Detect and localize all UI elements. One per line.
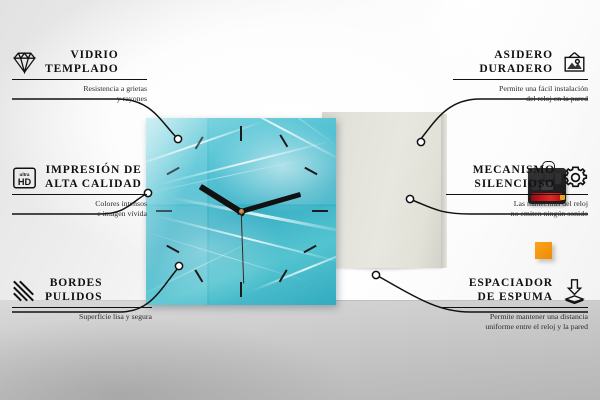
feature-title: DE ESPUMA bbox=[469, 291, 553, 305]
divider bbox=[12, 194, 147, 195]
divider bbox=[12, 307, 152, 308]
divider bbox=[440, 307, 588, 308]
foam-spacer bbox=[535, 242, 552, 259]
product-group bbox=[140, 104, 445, 309]
feature-desc: Las manecillas del reloj bbox=[446, 199, 588, 209]
clock-back-panel bbox=[322, 112, 442, 268]
diamond-icon bbox=[12, 51, 37, 74]
feature-desc: Permite mantener una distancia bbox=[440, 312, 588, 322]
feature-desc: uniforme entre el reloj y la pared bbox=[440, 322, 588, 332]
hands-hub bbox=[239, 209, 244, 214]
hour-tick bbox=[312, 210, 328, 212]
svg-text:HD: HD bbox=[18, 177, 32, 187]
feature-desc: y rayones bbox=[12, 94, 147, 104]
feature-mecanismo-silencioso: MECANISMO SILENCIOSO Las manecillas del … bbox=[446, 164, 588, 218]
feature-title: BORDES bbox=[45, 277, 102, 291]
divider bbox=[12, 79, 147, 80]
feature-desc: Permite una fácil instalación bbox=[453, 84, 588, 94]
feature-desc: Resistencia a grietas bbox=[12, 84, 147, 94]
feature-title: VIDRIO bbox=[45, 49, 119, 63]
feature-title: ESPACIADOR bbox=[469, 277, 553, 291]
feature-desc: no emiten ningún sonido bbox=[446, 209, 588, 219]
ultra-hd-icon: ultra HD bbox=[12, 166, 37, 190]
feature-title: ASIDERO bbox=[479, 49, 553, 63]
feature-title: TEMPLADO bbox=[45, 63, 119, 77]
feature-impresion-alta-calidad: ultra HD IMPRESIÓN DE ALTA CALIDAD Color… bbox=[12, 164, 147, 218]
feature-vidrio-templado: VIDRIO TEMPLADO Resistencia a grietas y … bbox=[12, 49, 147, 103]
hanging-picture-frame-icon bbox=[561, 51, 588, 75]
press-down-onto-pad-icon bbox=[561, 278, 588, 304]
feature-desc: Colores intensos bbox=[12, 199, 147, 209]
divider bbox=[446, 194, 588, 195]
feature-desc: del reloj en la pared bbox=[453, 94, 588, 104]
hour-tick bbox=[240, 282, 242, 297]
divider bbox=[453, 79, 588, 80]
feature-title: DURADERO bbox=[479, 63, 553, 77]
feature-desc: Superficie lisa y segura bbox=[12, 312, 152, 322]
feature-desc: e imagen vívida bbox=[12, 209, 147, 219]
feature-asidero-duradero: ASIDERO DURADERO Permite una fácil insta… bbox=[453, 49, 588, 103]
feature-title: IMPRESIÓN DE bbox=[45, 164, 142, 178]
gear-icon bbox=[563, 165, 588, 190]
feature-title: ALTA CALIDAD bbox=[45, 178, 142, 192]
infographic-canvas: VIDRIO TEMPLADO Resistencia a grietas y … bbox=[0, 0, 600, 400]
feature-title: MECANISMO bbox=[473, 164, 555, 178]
polished-edge-lines-icon bbox=[12, 279, 37, 303]
feature-espaciador-de-espuma: ESPACIADOR DE ESPUMA Permite mantener un… bbox=[440, 277, 588, 331]
hour-tick bbox=[240, 126, 242, 141]
clock-front-face bbox=[146, 118, 336, 305]
feature-title: SILENCIOSO bbox=[473, 178, 555, 192]
feature-bordes-pulidos: BORDES PULIDOS Superficie lisa y segura bbox=[12, 277, 152, 322]
feature-title: PULIDOS bbox=[45, 291, 102, 305]
hour-tick bbox=[156, 210, 172, 212]
